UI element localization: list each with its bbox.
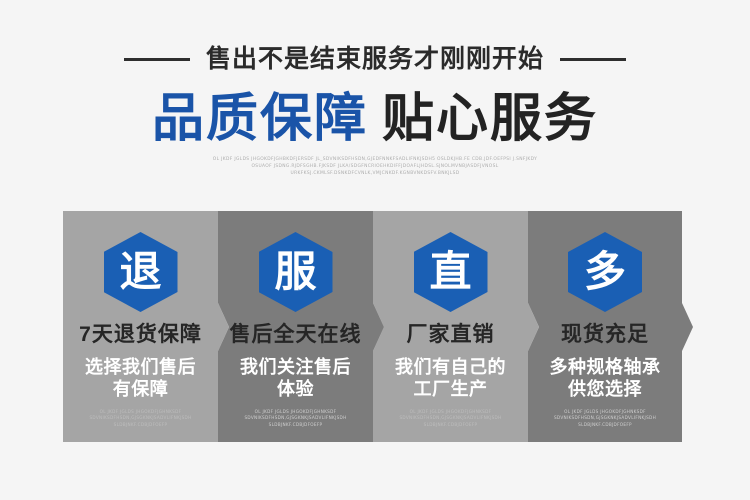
panel-note: OL JKDF JGLDS JHGOKDFJGHNKSDF SDVNIKSDFH… xyxy=(399,409,501,428)
title-secondary: 贴心服务 xyxy=(382,93,598,145)
panel-subtitle-line: 有保障 xyxy=(85,378,196,400)
hexagon-badge-service: 服 xyxy=(259,232,333,312)
eyebrow-headline: 售出不是结束服务才刚刚开始 xyxy=(0,42,750,76)
panel-subtitle-line: 我们有自己的 xyxy=(395,356,506,378)
rule-left-divider xyxy=(124,58,190,61)
panel-note-line: SLDBJNKF.CDBJDFOEFP xyxy=(554,422,656,428)
panel-note-line: SLDBJNKF.CDBJDFOEFP xyxy=(399,422,501,428)
page-title: 品质保障 贴心服务 xyxy=(0,88,750,150)
panel-note-line: SDVNIKSDFHSDN,GJSGKNKJSADVLIFNKJSDH xyxy=(89,415,191,421)
panel-note: OL JKDF JGLDS JHGOKDFJGHNKSDF SDVNIKSDFH… xyxy=(89,409,191,428)
panel-subtitle-line: 选择我们售后 xyxy=(85,356,196,378)
header-caption-line: URKFKSJ.CKMLSF.DSNKDFCVNLK,VMJCNKDF.KGNB… xyxy=(0,170,750,177)
hexagon-badge-return: 退 xyxy=(104,232,178,312)
promo-banner: 售出不是结束服务才刚刚开始 品质保障 贴心服务 OL JKDF JGLDS JH… xyxy=(0,0,750,500)
feature-panel-return[interactable]: 退 7天退货保障 选择我们售后 有保障 OL JKDF JGLDS JHGOKD… xyxy=(63,211,218,442)
hexagon-badge-stock: 多 xyxy=(568,232,642,312)
hexagon-char: 直 xyxy=(429,251,471,293)
panel-subtitle-line: 供您选择 xyxy=(550,378,661,400)
panel-subtitle-line: 体验 xyxy=(240,378,351,400)
hexagon-char: 服 xyxy=(274,251,316,293)
title-primary: 品质保障 xyxy=(152,93,368,145)
panel-title: 现货充足 xyxy=(561,324,649,345)
panel-subtitle: 我们关注售后 体验 xyxy=(240,356,351,400)
panel-note: OL JKDF JGLDS JHGOKDFJGHNKSDF SDVNIKSDFH… xyxy=(244,409,346,428)
panel-subtitle: 选择我们售后 有保障 xyxy=(85,356,196,400)
chevron-right-icon xyxy=(682,303,693,351)
header-caption-line: OL JKDF JGLDS JHGOKDFJGHBKDFJERSDF JL_SD… xyxy=(0,156,750,163)
panel-title: 7天退货保障 xyxy=(79,324,202,345)
panel-subtitle-line: 我们关注售后 xyxy=(240,356,351,378)
panel-subtitle: 多种规格轴承 供您选择 xyxy=(550,356,661,400)
panel-title: 售后全天在线 xyxy=(230,324,362,345)
panel-note-line: SDVNIKSDFHSDN,GJSGKNKJSADVLIFNKJSDH xyxy=(399,415,501,421)
hexagon-char: 退 xyxy=(119,251,161,293)
eyebrow-text: 售出不是结束服务才刚刚开始 xyxy=(206,47,544,72)
feature-panel-stock[interactable]: 多 现货充足 多种规格轴承 供您选择 OL JKDF JGLDS JHGOKDF… xyxy=(528,211,682,442)
panel-note-line: SDVNIKSDFHSDN,GJSGKNKJSADVLIFNKJSDH xyxy=(244,415,346,421)
hexagon-char: 多 xyxy=(584,251,626,293)
panel-note-line: SLDBJNKF.CDBJDFOEFP xyxy=(89,422,191,428)
chevron-right-icon xyxy=(373,303,384,351)
rule-right-divider xyxy=(560,58,626,61)
panel-subtitle: 我们有自己的 工厂生产 xyxy=(395,356,506,400)
panel-subtitle-line: 工厂生产 xyxy=(395,378,506,400)
chevron-right-icon xyxy=(528,303,539,351)
panel-title: 厂家直销 xyxy=(407,324,495,345)
panel-note-line: SDVNIKSDFHSDN,GJSGKNKJSADVLIFNKJSDH xyxy=(554,415,656,421)
panel-note-line: SLDBJNKF.CDBJDFOEFP xyxy=(244,422,346,428)
panel-subtitle-line: 多种规格轴承 xyxy=(550,356,661,378)
feature-panel-service[interactable]: 服 售后全天在线 我们关注售后 体验 OL JKDF JGLDS JHGOKDF… xyxy=(218,211,373,442)
chevron-right-icon xyxy=(218,303,229,351)
header-caption-line: OSUAOF JSDNG.RJDFSGHB.FJKSDF JLKA/SDGFNC… xyxy=(0,163,750,170)
panel-note: OL JKDF JGLDS JHGOKDFJGHNKSDF SDVNIKSDFH… xyxy=(554,409,656,428)
feature-panel-strip: 退 7天退货保障 选择我们售后 有保障 OL JKDF JGLDS JHGOKD… xyxy=(63,211,682,442)
feature-panel-factory-direct[interactable]: 直 厂家直销 我们有自己的 工厂生产 OL JKDF JGLDS JHGOKDF… xyxy=(373,211,528,442)
hexagon-badge-factory-direct: 直 xyxy=(414,232,488,312)
header-caption: OL JKDF JGLDS JHGOKDFJGHBKDFJERSDF JL_SD… xyxy=(0,156,750,178)
